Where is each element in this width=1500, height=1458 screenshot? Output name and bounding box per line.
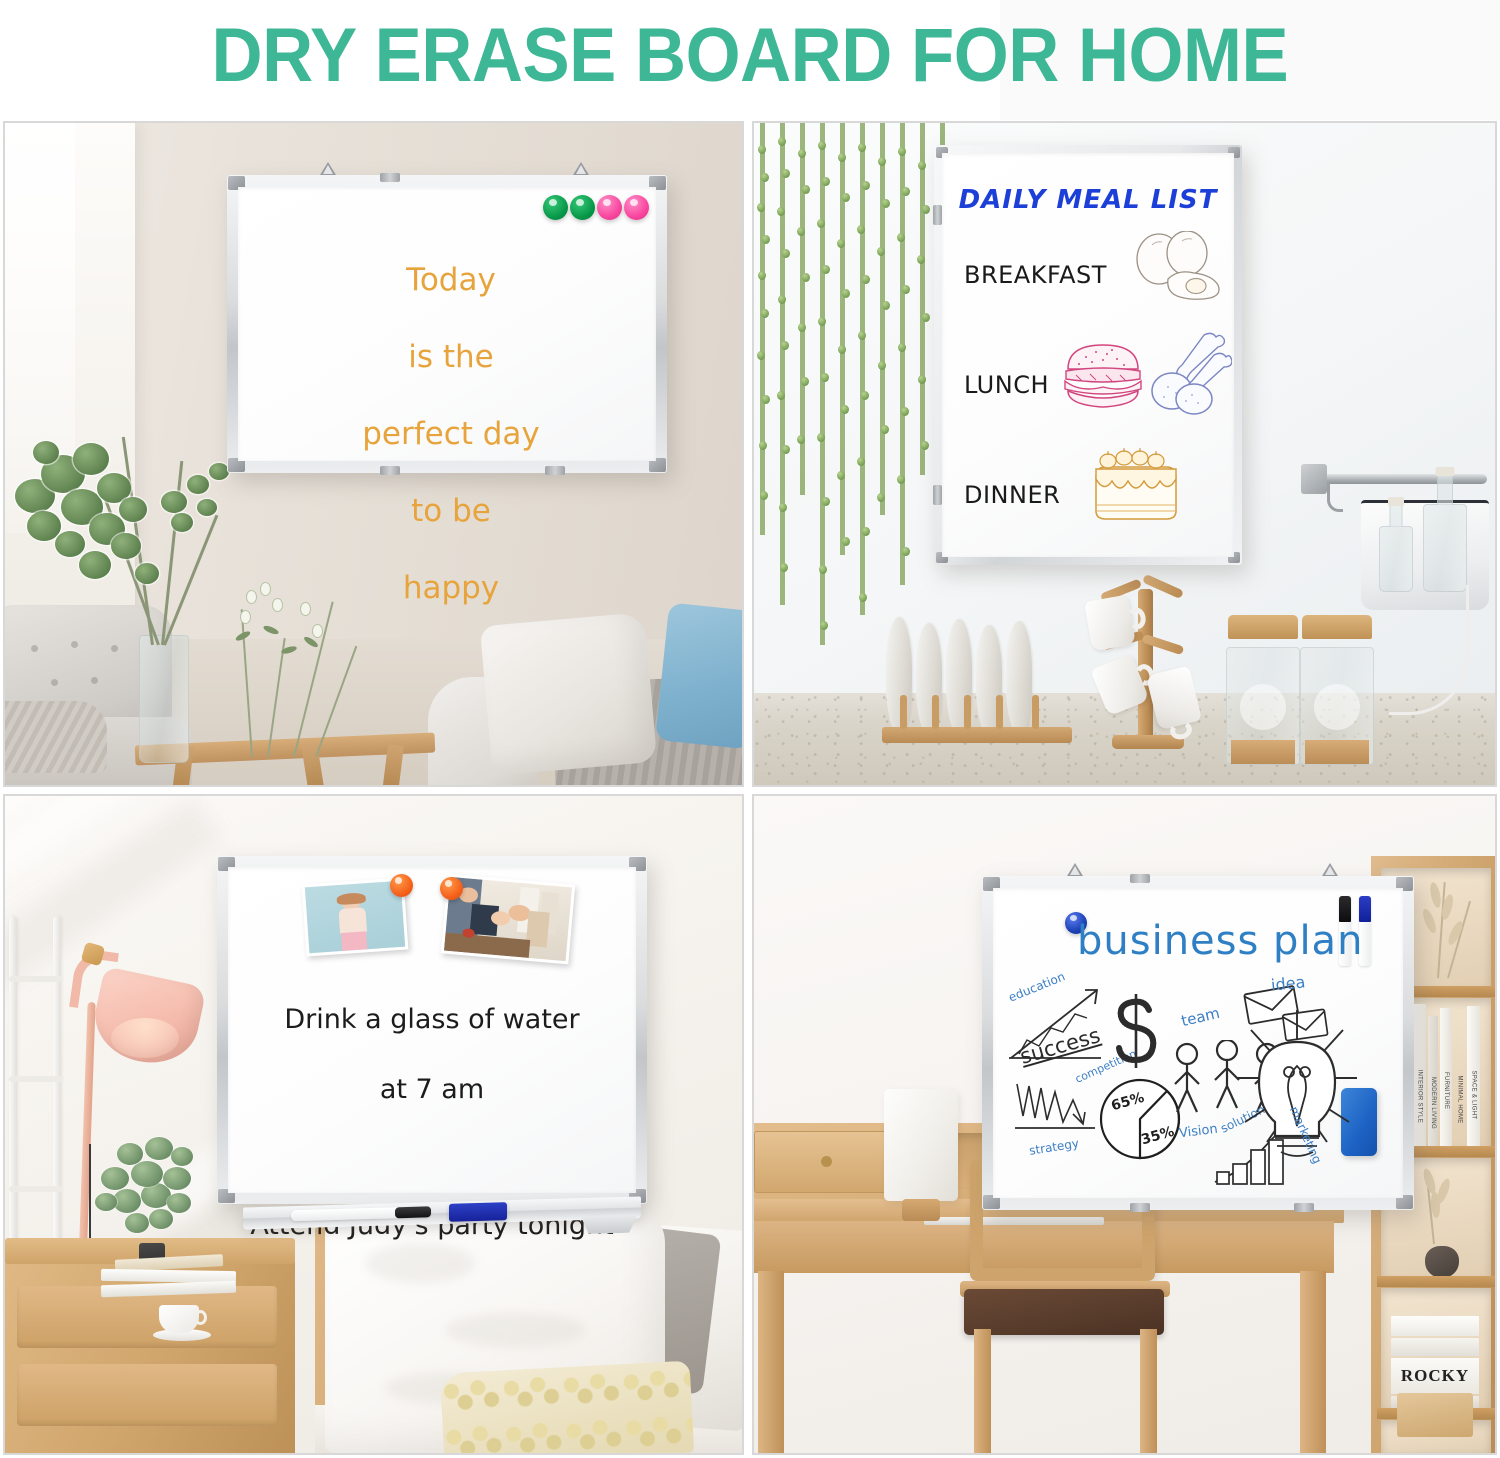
desk-lamp-base	[902, 1199, 940, 1221]
glass-bottle-small	[1379, 526, 1413, 592]
whiteboard-bedroom[interactable]: Drink a glass of water at 7 am Attend Ju…	[217, 856, 647, 1204]
mug-3	[1146, 666, 1202, 731]
marker-cap-black	[395, 1206, 431, 1218]
meal-row-label-breakfast: BREAKFAST	[964, 261, 1107, 289]
meal-row-label-lunch: LUNCH	[964, 371, 1049, 399]
glass-canister-1	[1226, 615, 1300, 765]
board-text-living-room: Today is the perfect day to be happy	[286, 223, 616, 646]
frame-clip-top	[380, 173, 400, 182]
magnet-pink-1[interactable]	[597, 195, 622, 220]
frame-clip-top	[1130, 874, 1150, 883]
text-line-3: perfect day	[286, 415, 616, 453]
magnet-green-2[interactable]	[570, 195, 595, 220]
leather-seat	[964, 1289, 1164, 1335]
desk-lamp-shade	[884, 1089, 958, 1201]
text-line-1: Drink a glass of water	[244, 1002, 620, 1037]
mug-tree	[1084, 564, 1214, 749]
text-line-2: at 7 am	[244, 1072, 620, 1107]
text-line-1: Today	[286, 261, 616, 299]
rail-hook	[1327, 482, 1343, 512]
magnet-orange-2[interactable]	[440, 877, 463, 900]
text-line-4: to be	[286, 492, 616, 530]
text-line-5: happy	[286, 569, 616, 607]
panel-living-room: Today is the perfect day to be happy	[3, 121, 744, 787]
magnet-green-1[interactable]	[543, 195, 568, 220]
wall-rail	[1317, 474, 1487, 484]
meal-row-label-dinner: DINNER	[964, 481, 1060, 509]
board-surface[interactable]: Today is the perfect day to be happy	[238, 187, 656, 461]
magnet-pink-2[interactable]	[624, 195, 649, 220]
whiteboard-kitchen[interactable]: DAILY MEAL LIST BREAKFAST LUNCH	[934, 145, 1242, 565]
dollar-sign-icon	[1109, 994, 1165, 1070]
frame-clip-bottom	[1130, 1203, 1150, 1212]
fried-egg-icon	[1128, 231, 1226, 303]
frame-clip-bottom-2	[1294, 1203, 1314, 1212]
glass-canister-2	[1300, 615, 1374, 765]
patterned-throw	[440, 1361, 694, 1453]
doodle-label-team: team	[1179, 1004, 1221, 1030]
panel-kitchen: DAILY MEAL LIST BREAKFAST LUNCH	[752, 121, 1497, 787]
burger-icon	[1060, 335, 1146, 415]
panel-home-office: THE ARCHITECTURE DESIGN BOOK INTERIOR ST…	[752, 794, 1497, 1455]
whiteboard-living-room[interactable]: Today is the perfect day to be happy	[227, 175, 667, 473]
board-surface[interactable]: DAILY MEAL LIST BREAKFAST LUNCH	[942, 153, 1234, 557]
blue-eraser[interactable]	[449, 1202, 507, 1222]
board-text-bedroom: Drink a glass of water at 7 am Attend Ju…	[244, 967, 620, 1278]
potted-plant	[87, 1117, 217, 1267]
text-line-2: is the	[286, 338, 616, 376]
plate-rack	[882, 615, 1072, 743]
frame-clip-left-top	[933, 205, 942, 225]
frame-clip-left-bottom	[933, 485, 942, 505]
tray-bracket	[581, 1216, 637, 1235]
glass-bottle-large	[1423, 504, 1467, 592]
lightbulb-icon	[1231, 1000, 1363, 1170]
mug-1	[1084, 595, 1136, 652]
magnet-orange-1[interactable]	[390, 874, 413, 897]
down-arrow-zigzag-icon	[1011, 1074, 1101, 1138]
doodle-label-strategy: strategy	[1028, 1136, 1080, 1158]
panel-grid: Today is the perfect day to be happy	[0, 118, 1500, 1458]
board-surface[interactable]: Drink a glass of water at 7 am Attend Ju…	[228, 867, 636, 1193]
panel-bedroom: Drink a glass of water at 7 am Attend Ju…	[3, 794, 744, 1455]
glass-vase	[139, 635, 189, 763]
board-title-business-plan: business plan	[1077, 918, 1363, 964]
header-banner: DRY ERASE BOARD FOR HOME	[0, 0, 1500, 120]
doodle-label-idea: idea	[1270, 972, 1306, 994]
cake-icon	[1082, 447, 1190, 525]
chicken-legs-icon	[1148, 329, 1232, 415]
board-title-daily-meal-list: DAILY MEAL LIST	[942, 185, 1234, 215]
whiteboard-home-office[interactable]: business plan education success competit…	[982, 876, 1414, 1210]
page-title: DRY ERASE BOARD FOR HOME	[212, 18, 1289, 94]
pillow-blue	[655, 602, 742, 749]
product-image: DRY ERASE BOARD FOR HOME	[0, 0, 1500, 1458]
teacup-and-saucer	[153, 1297, 211, 1341]
board-surface[interactable]: business plan education success competit…	[993, 888, 1403, 1198]
